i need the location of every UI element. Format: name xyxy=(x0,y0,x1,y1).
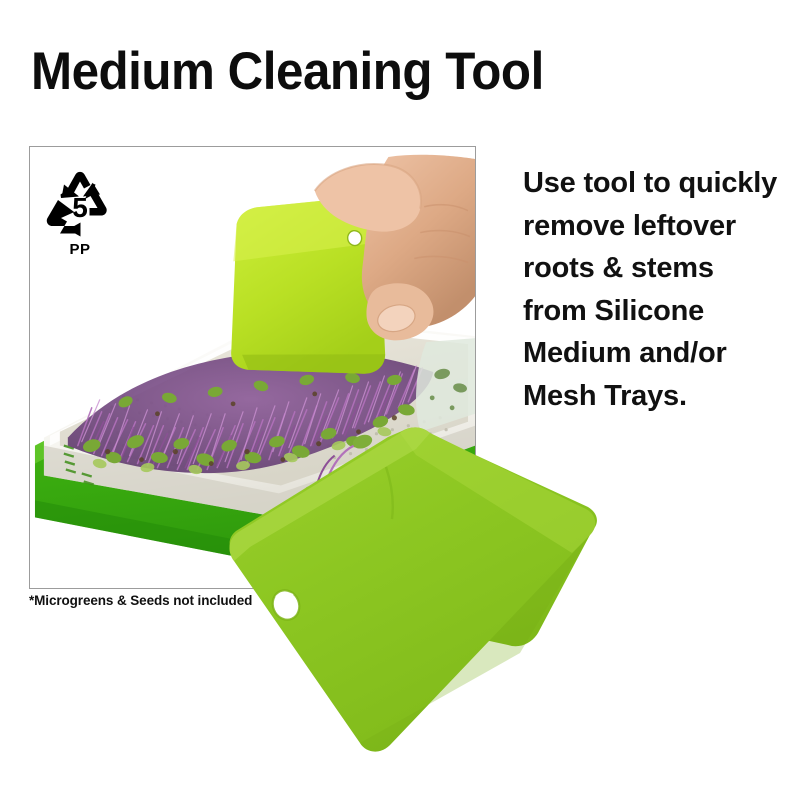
photo-caption-disclaimer: *Microgreens & Seeds not included xyxy=(29,593,252,608)
hero-scraper-tool xyxy=(220,415,610,770)
recycling-badge: 5 PP xyxy=(44,169,132,261)
page-title: Medium Cleaning Tool xyxy=(31,42,544,102)
scraper-tool-illustration xyxy=(220,415,610,770)
resin-code-number: 5 xyxy=(72,192,88,223)
product-description: Use tool to quickly remove leftover root… xyxy=(523,162,785,417)
resin-material-label: PP xyxy=(44,241,116,258)
recycling-triangle-icon: 5 xyxy=(44,169,116,241)
